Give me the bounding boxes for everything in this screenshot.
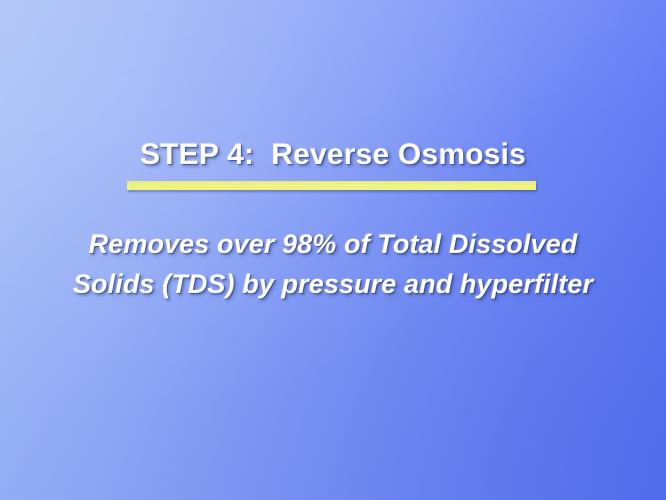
slide-subtitle-line-2: Solids (TDS) by pressure and hyperfilter <box>0 264 666 304</box>
slide-title: STEP 4: Reverse Osmosis <box>140 139 526 171</box>
slide-title-block: STEP 4: Reverse Osmosis <box>0 139 666 171</box>
slide-subtitle-line-1: Removes over 98% of Total Dissolved <box>0 224 666 264</box>
slide-content: STEP 4: Reverse Osmosis Removes over 98%… <box>0 0 666 500</box>
presentation-slide: STEP 4: Reverse Osmosis Removes over 98%… <box>0 0 666 500</box>
slide-subtitle-block: Removes over 98% of Total Dissolved Soli… <box>0 224 666 304</box>
title-underline-rule <box>127 181 536 190</box>
